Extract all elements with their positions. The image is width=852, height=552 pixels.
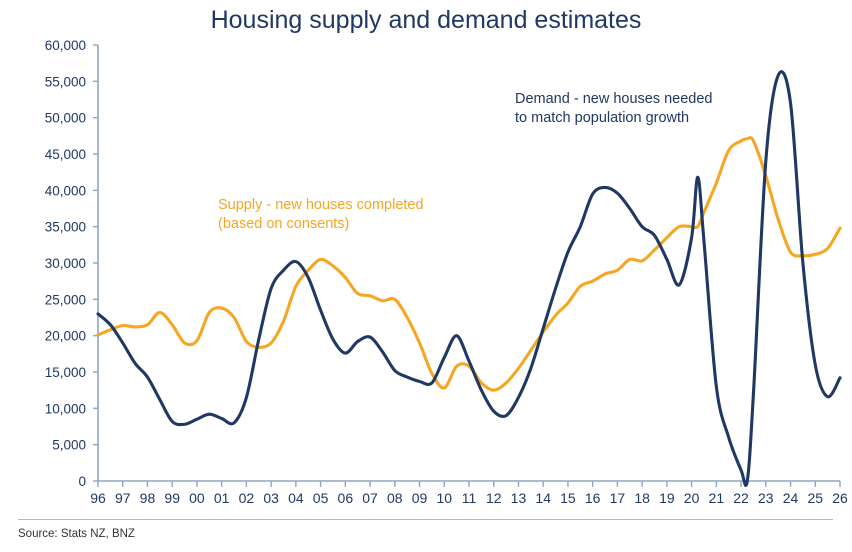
x-tick-label: 02 (239, 490, 255, 506)
y-tick-label: 55,000 (45, 74, 86, 89)
y-tick-label: 35,000 (45, 220, 86, 235)
x-tick-label: 19 (659, 490, 675, 506)
x-tick-label: 04 (288, 490, 304, 506)
x-tick-label: 23 (758, 490, 774, 506)
x-tick-label: 26 (832, 490, 848, 506)
y-tick-label: 50,000 (45, 111, 86, 126)
annotation-supply: Supply - new houses completed (based on … (218, 196, 424, 234)
x-tick-label: 96 (90, 490, 106, 506)
y-tick-label: 20,000 (45, 329, 86, 344)
x-tick-label: 06 (338, 490, 354, 506)
x-tick-label: 21 (709, 490, 725, 506)
x-tick-label: 99 (164, 490, 180, 506)
x-axis-tick-labels: 9697989900010203040506070809101112131415… (90, 490, 848, 506)
x-tick-label: 01 (214, 490, 230, 506)
x-tick-label: 12 (486, 490, 502, 506)
y-tick-label: 40,000 (45, 183, 86, 198)
y-tick-label: 25,000 (45, 292, 86, 307)
x-tick-label: 24 (783, 490, 799, 506)
y-tick-label: 0 (78, 474, 86, 489)
x-tick-label: 20 (684, 490, 700, 506)
x-tick-label: 11 (462, 490, 477, 506)
source-divider: Source: Stats NZ, BNZ (18, 519, 833, 542)
annotation-demand: Demand - new houses needed to match popu… (515, 90, 713, 128)
x-tick-label: 98 (140, 490, 156, 506)
x-tick-label: 16 (585, 490, 601, 506)
y-tick-label: 10,000 (45, 401, 86, 416)
x-tick-label: 15 (560, 490, 576, 506)
x-tick-label: 00 (189, 490, 205, 506)
annotation-demand-line2: to match population growth (515, 109, 713, 128)
chart-container: Housing supply and demand estimates 60,0… (0, 0, 852, 552)
y-tick-label: 30,000 (45, 256, 86, 271)
annotation-supply-line1: Supply - new houses completed (218, 196, 424, 215)
x-tick-label: 14 (535, 490, 551, 506)
x-tick-label: 22 (733, 490, 749, 506)
x-tick-label: 13 (511, 490, 527, 506)
annotation-demand-line1: Demand - new houses needed (515, 90, 713, 109)
x-tick-label: 08 (387, 490, 403, 506)
x-tick-label: 09 (412, 490, 428, 506)
x-tick-label: 05 (313, 490, 329, 506)
x-tick-label: 17 (610, 490, 626, 506)
x-tick-label: 03 (263, 490, 279, 506)
y-tick-label: 15,000 (45, 365, 86, 380)
y-axis-tick-labels: 60,00055,00050,00045,00040,00035,00030,0… (45, 38, 86, 489)
y-tick-label: 60,000 (45, 38, 86, 53)
series-line-demand (98, 72, 840, 486)
chart-plot-area: 60,00055,00050,00045,00040,00035,00030,0… (0, 0, 852, 552)
y-tick-label: 5,000 (52, 438, 86, 453)
x-tick-label: 97 (115, 490, 131, 506)
y-tick-label: 45,000 (45, 147, 86, 162)
series-line-supply (98, 138, 840, 391)
x-tick-label: 10 (436, 490, 452, 506)
x-axis-tick-marks (98, 481, 840, 487)
x-tick-label: 25 (807, 490, 823, 506)
x-tick-label: 07 (362, 490, 378, 506)
x-tick-label: 18 (634, 490, 650, 506)
annotation-supply-line2: (based on consents) (218, 215, 424, 234)
source-note: Source: Stats NZ, BNZ (18, 528, 135, 540)
